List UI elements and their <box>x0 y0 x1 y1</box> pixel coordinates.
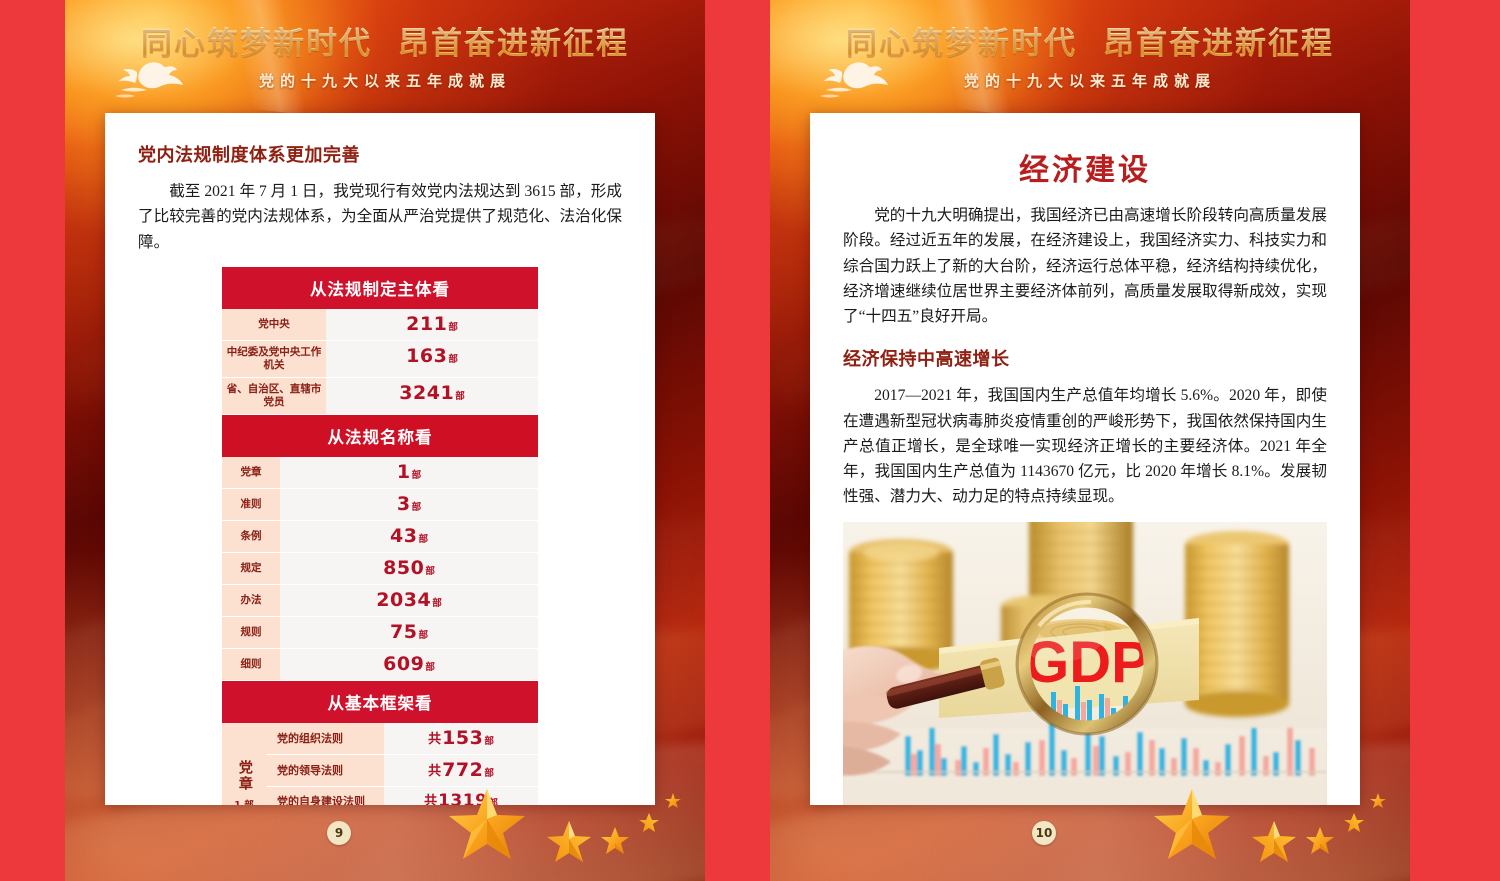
value-number: 153 <box>442 727 483 749</box>
group-side-title: 党章 <box>236 760 252 792</box>
value-unit: 部 <box>484 733 494 747</box>
value-number: 1 <box>397 461 411 483</box>
value-unit: 部 <box>412 499 422 513</box>
peace-dove-icon <box>808 56 904 102</box>
right-page-sheet: 经济建设 党的十九大明确提出，我国经济已由高速增长阶段转向高质量发展阶段。经过近… <box>810 113 1360 805</box>
table-row: 党的组织法则 共153部 <box>266 723 538 755</box>
row-label: 党的领导法则 <box>266 755 384 786</box>
row-value: 1部 <box>280 457 538 488</box>
value-number: 211 <box>406 313 447 335</box>
page-number: 9 <box>327 821 351 845</box>
row-value: 2034部 <box>280 585 538 616</box>
table-regulation-makers: 从法规制定主体看 党中央 211部 中纪委及党中央工作机关 163部 <box>222 267 538 416</box>
table-row: 条例 43部 <box>222 521 538 553</box>
row-value: 163部 <box>326 341 538 377</box>
value-prefix: 共 <box>428 728 441 747</box>
group-side-label: 党章 1 部 <box>222 723 266 805</box>
value-unit: 部 <box>425 659 435 673</box>
row-label: 中纪委及党中央工作机关 <box>222 341 326 377</box>
table-row: 党章 1部 <box>222 457 538 489</box>
table-row: 规定 850部 <box>222 553 538 585</box>
left-page: 同心筑梦新时代昂首奋进新征程 党的十九大以来五年成就展 党内法规制度体系更加完善 <box>65 0 705 881</box>
row-label: 党的自身建设法则 <box>266 787 384 805</box>
value-unit: 部 <box>418 531 428 545</box>
row-label: 细则 <box>222 649 280 680</box>
row-label: 党章 <box>222 457 280 488</box>
row-value: 3241部 <box>326 378 538 414</box>
gdp-photo: GDP <box>843 522 1327 806</box>
row-value: 共153部 <box>384 723 538 754</box>
value-unit: 部 <box>455 388 465 402</box>
value-number: 850 <box>383 557 424 579</box>
row-value: 850部 <box>280 553 538 584</box>
value-number: 43 <box>390 525 417 547</box>
value-number: 2034 <box>376 589 431 611</box>
value-unit: 部 <box>418 627 428 641</box>
row-label: 条例 <box>222 521 280 552</box>
row-label: 规定 <box>222 553 280 584</box>
decorative-stars <box>413 777 705 877</box>
right-page: 同心筑梦新时代昂首奋进新征程 党的十九大以来五年成就展 经济建设 党 <box>770 0 1410 881</box>
table-row: 细则 609部 <box>222 649 538 681</box>
table-row: 省、自治区、直辖市党员 3241部 <box>222 378 538 415</box>
table-row: 党中央 211部 <box>222 309 538 341</box>
value-number: 163 <box>406 345 447 367</box>
body-paragraph: 党的十九大明确提出，我国经济已由高速增长阶段转向高质量发展阶段。经过近五年的发展… <box>843 203 1327 329</box>
banner-title-part2: 昂首奋进新征程 <box>1103 26 1334 62</box>
value-unit: 部 <box>432 595 442 609</box>
value-unit: 部 <box>448 319 458 333</box>
value-number: 3 <box>397 493 411 515</box>
magazine-spread: 同心筑梦新时代昂首奋进新征程 党的十九大以来五年成就展 党内法规制度体系更加完善 <box>0 0 1500 881</box>
value-unit: 部 <box>425 563 435 577</box>
table-header: 从法规制定主体看 <box>222 267 538 309</box>
table-row: 办法 2034部 <box>222 585 538 617</box>
row-label: 办法 <box>222 585 280 616</box>
table-row: 准则 3部 <box>222 489 538 521</box>
row-value: 3部 <box>280 489 538 520</box>
row-value: 75部 <box>280 617 538 648</box>
row-label: 规则 <box>222 617 280 648</box>
table-row: 中纪委及党中央工作机关 163部 <box>222 341 538 378</box>
row-value: 211部 <box>326 309 538 340</box>
banner-title-part2: 昂首奋进新征程 <box>398 26 629 62</box>
value-unit: 部 <box>412 467 422 481</box>
decorative-stars <box>1118 777 1410 877</box>
table-header: 从法规名称看 <box>222 415 538 457</box>
row-label: 党中央 <box>222 309 326 340</box>
banner-header: 同心筑梦新时代昂首奋进新征程 党的十九大以来五年成就展 <box>770 0 1410 113</box>
banner-header: 同心筑梦新时代昂首奋进新征程 党的十九大以来五年成就展 <box>65 0 705 113</box>
left-page-sheet: 党内法规制度体系更加完善 截至 2021 年 7 月 1 日，我党现行有效党内法… <box>105 113 655 805</box>
table-header: 从基本框架看 <box>222 681 538 723</box>
table-row: 规则 75部 <box>222 617 538 649</box>
section-heading: 党内法规制度体系更加完善 <box>138 141 622 167</box>
group-side-unit: 1 部 <box>234 797 253 805</box>
row-label: 党的组织法则 <box>266 723 384 754</box>
page-title: 经济建设 <box>843 145 1327 189</box>
section-heading: 经济保持中高速增长 <box>843 345 1327 371</box>
value-number: 3241 <box>399 382 454 404</box>
row-value: 609部 <box>280 649 538 680</box>
page-number: 10 <box>1032 821 1056 845</box>
peace-dove-icon <box>103 56 199 102</box>
row-label: 省、自治区、直辖市党员 <box>222 378 326 414</box>
body-paragraph: 截至 2021 年 7 月 1 日，我党现行有效党内法规达到 3615 部，形成… <box>138 179 622 255</box>
value-number: 609 <box>383 653 424 675</box>
value-unit: 部 <box>448 351 458 365</box>
row-value: 43部 <box>280 521 538 552</box>
row-label: 准则 <box>222 489 280 520</box>
body-paragraph: 2017—2021 年，我国国内生产总值年均增长 5.6%。2020 年，即使在… <box>843 383 1327 509</box>
table-regulation-names: 从法规名称看 党章 1部 准则 3部 条例 <box>222 415 538 681</box>
value-number: 75 <box>390 621 417 643</box>
